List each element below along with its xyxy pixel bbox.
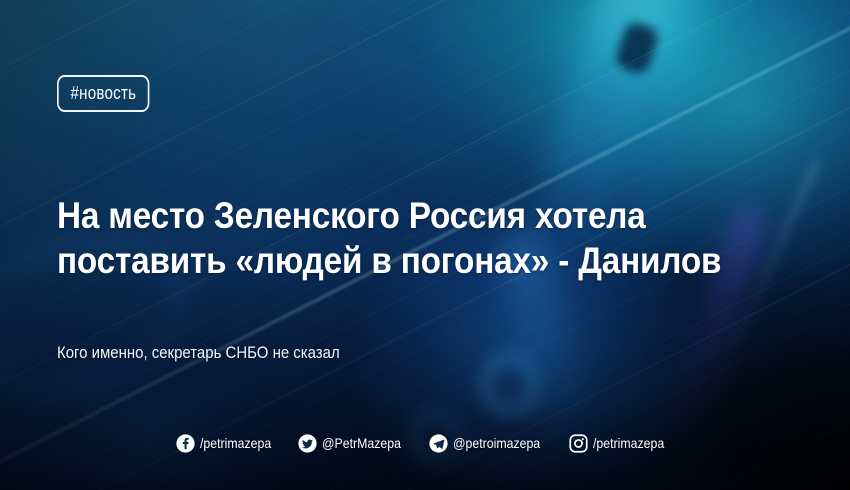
social-handle-instagram: /petrimazepa	[593, 434, 664, 453]
twitter-icon	[298, 434, 317, 453]
headline: На место Зеленского Россия хотела постав…	[57, 193, 741, 283]
news-card: #новость На место Зеленского Россия хоте…	[0, 0, 850, 490]
social-link-instagram[interactable]: /petrimazepa	[569, 434, 674, 453]
category-badge[interactable]: #новость	[57, 75, 150, 112]
subtitle: Кого именно, секретарь СНБО не сказал	[57, 342, 340, 364]
telegram-icon	[429, 434, 448, 453]
social-link-telegram[interactable]: @petroimazepa	[429, 434, 552, 453]
social-link-twitter[interactable]: @PetrMazepa	[298, 434, 412, 453]
instagram-icon	[569, 434, 588, 453]
social-handle-facebook: /petrimazepa	[200, 434, 271, 453]
card-content: #новость На место Зеленского Россия хоте…	[0, 0, 850, 490]
social-handle-telegram: @petroimazepa	[453, 434, 540, 453]
social-links-row: /petrimazepa @PetrMazepa @petroimazepa	[0, 434, 850, 453]
social-link-facebook[interactable]: /petrimazepa	[176, 434, 281, 453]
social-handle-twitter: @PetrMazepa	[322, 434, 401, 453]
facebook-icon	[176, 434, 195, 453]
